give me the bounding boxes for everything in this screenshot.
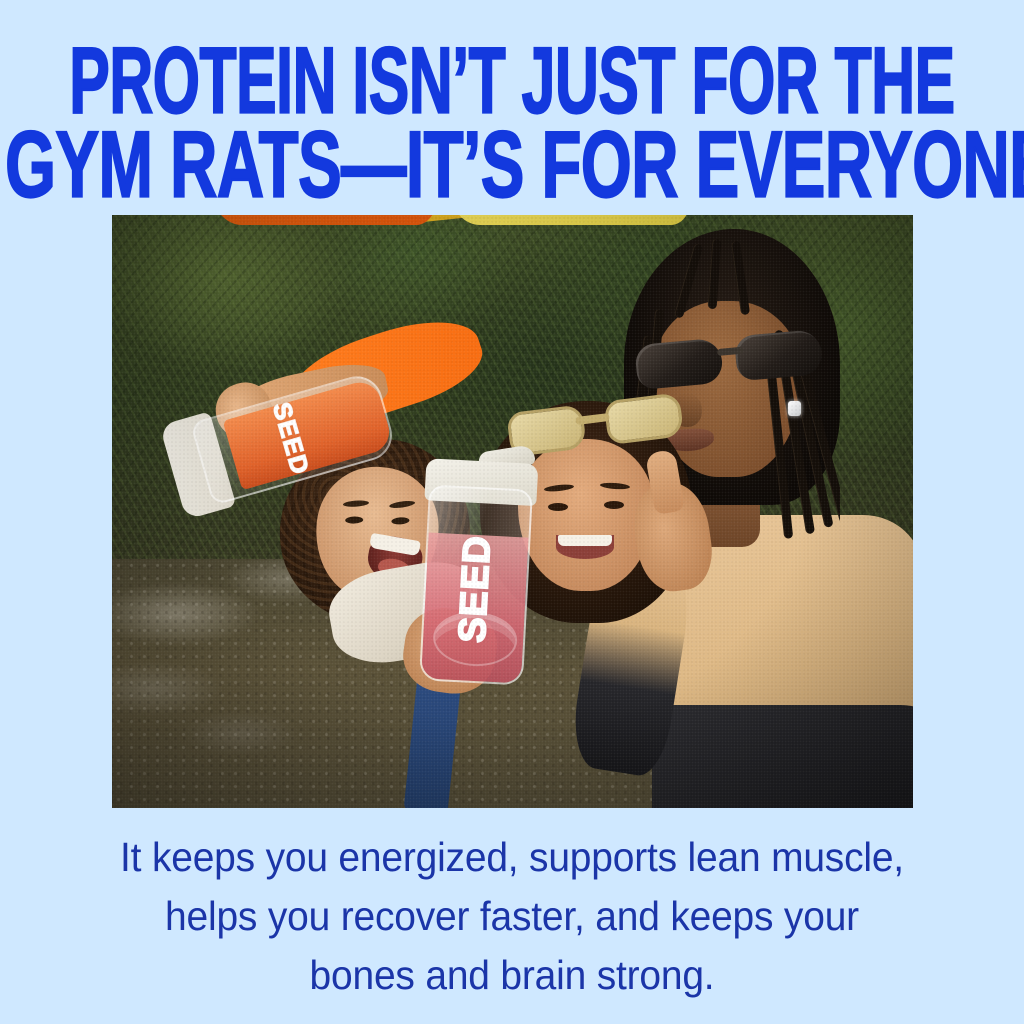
- photo-stage: SEED: [112, 215, 913, 808]
- person-orange-fleece-jacket: [204, 215, 440, 225]
- shaker-bottle-pink: SEED: [419, 484, 533, 685]
- person-yellow-jacket-body: [452, 215, 690, 225]
- headline-line-1: PROTEIN ISN’T JUST FOR THE: [41, 40, 983, 121]
- shaker-bottle-pink-logo: SEED: [452, 534, 501, 644]
- body-copy-line-2: helps you recover faster, and keeps your: [26, 887, 999, 946]
- person-yellow-jacket-face: [518, 439, 654, 591]
- person-braids-earring: [788, 401, 801, 416]
- body-copy: It keeps you energized, supports lean mu…: [0, 828, 1024, 1005]
- hero-photo: SEED: [112, 215, 913, 808]
- headline: PROTEIN ISN’T JUST FOR THE GYM RATS—IT’S…: [0, 34, 1024, 193]
- body-copy-line-1: It keeps you energized, supports lean mu…: [26, 828, 999, 887]
- person-yellow-jacket-smile: [556, 535, 614, 559]
- ad-canvas: PROTEIN ISN’T JUST FOR THE GYM RATS—IT’S…: [0, 0, 1024, 1024]
- headline-line-2: GYM RATS—IT’S FOR EVERYONE.: [5, 124, 1019, 205]
- person-braids-jacket-lower: [652, 705, 913, 808]
- body-copy-line-3: bones and brain strong.: [26, 946, 999, 1005]
